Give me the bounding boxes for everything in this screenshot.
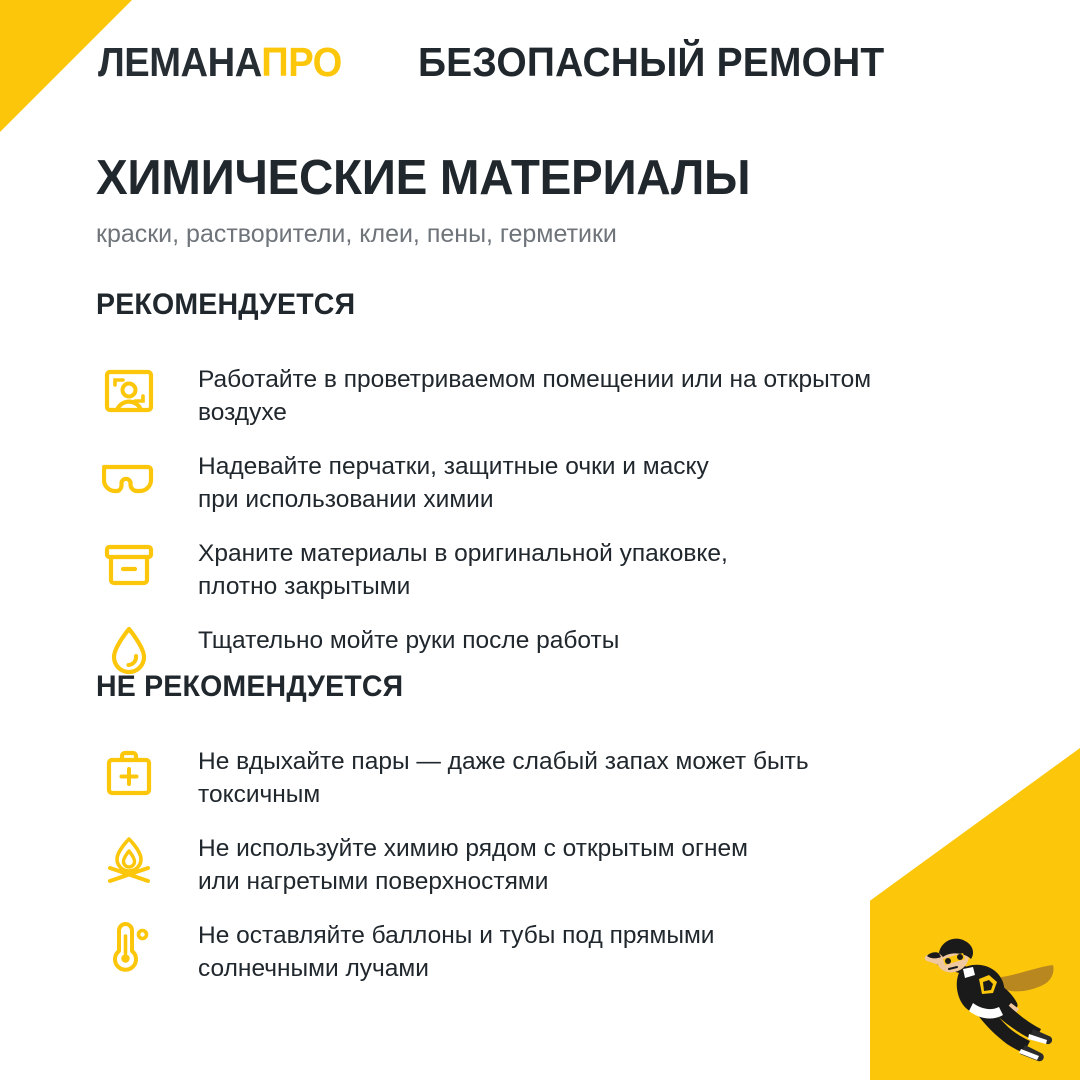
list-item: Работайте в проветриваемом помещении или… <box>96 360 871 429</box>
logo-word-lemana: ЛЕМАНА <box>98 39 261 85</box>
list-item-text: Не оставляйте баллоны и тубы под прямыми… <box>198 916 714 985</box>
flying-superhero-mascot <box>905 925 1080 1080</box>
list-item: Не вдыхайте пары — даже слабый запах мож… <box>96 742 809 811</box>
list-item-text: Тщательно мойте руки после работы <box>198 621 619 658</box>
page-subtitle: краски, растворители, клеи, пены, гермет… <box>96 219 770 249</box>
list-item-text: Надевайте перчатки, защитные очки и маск… <box>198 447 709 516</box>
storage-box-icon <box>96 534 162 596</box>
first-aid-kit-icon <box>96 742 162 804</box>
list-item-text: Не используйте химию рядом с открытым ог… <box>198 829 748 898</box>
list-item: Надевайте перчатки, защитные очки и маск… <box>96 447 871 516</box>
safety-goggles-icon <box>96 447 162 509</box>
thermometer-icon <box>96 916 162 978</box>
list-item: Не оставляйте баллоны и тубы под прямыми… <box>96 916 809 985</box>
page-title: ХИМИЧЕСКИЕ МАТЕРИАЛЫ <box>96 152 750 205</box>
list-item: Храните материалы в оригинальной упаковк… <box>96 534 871 603</box>
section-heading-recommended: РЕКОМЕНДУЕТСЯ <box>96 290 832 320</box>
poster: ЛЕМАНАПРО БЕЗОПАСНЫЙ РЕМОНТ ХИМИЧЕСКИЕ М… <box>0 0 1080 1080</box>
section-recommended: РЕКОМЕНДУЕТСЯ Работайте в проветриваемом… <box>96 290 871 683</box>
ventilated-room-icon <box>96 360 162 422</box>
list-item-text: Храните материалы в оригинальной упаковк… <box>198 534 728 603</box>
list-item-text: Не вдыхайте пары — даже слабый запах мож… <box>198 742 809 811</box>
section-not-recommended: НЕ РЕКОМЕНДУЕТСЯ Не вдыхайте пары — даже… <box>96 672 809 985</box>
logo-word-pro: ПРО <box>261 39 342 85</box>
campfire-icon <box>96 829 162 891</box>
campaign-title: БЕЗОПАСНЫЙ РЕМОНТ <box>418 42 884 83</box>
section-heading-not-recommended: НЕ РЕКОМЕНДУЕТСЯ <box>96 672 773 702</box>
title-block: ХИМИЧЕСКИЕ МАТЕРИАЛЫ краски, растворител… <box>96 152 770 249</box>
header: ЛЕМАНАПРО БЕЗОПАСНЫЙ РЕМОНТ <box>98 42 909 83</box>
list-item: Не используйте химию рядом с открытым ог… <box>96 829 809 898</box>
lemana-pro-logo: ЛЕМАНАПРО <box>98 42 342 83</box>
list-item-text: Работайте в проветриваемом помещении или… <box>198 360 871 429</box>
